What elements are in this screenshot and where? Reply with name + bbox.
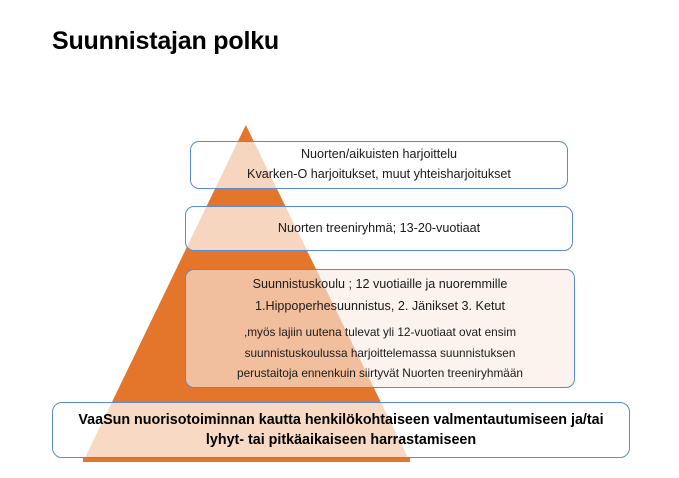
callout-paragraph-line: perustaitoja ennenkuin siirtyvät Nuorten… <box>200 365 560 382</box>
slide-canvas: Suunnistajan polku Nuorten/aikuisten har… <box>0 0 679 478</box>
callout-line: Suunnistuskoulu ; 12 vuotiaille ja nuore… <box>200 275 560 295</box>
callout-line: Kvarken-O harjoitukset, muut yhteisharjo… <box>199 165 559 185</box>
callout-paragraph-line: suunnistuskoulussa harjoittelemassa suun… <box>200 345 560 362</box>
callout-box-youth-group[interactable]: Nuorten treeniryhmä; 13-20-vuotiaat <box>185 206 573 251</box>
pyramid-base-strip <box>83 458 410 462</box>
banner-line: VaaSun nuorisotoiminnan kautta henkilöko… <box>65 410 617 430</box>
page-title: Suunnistajan polku <box>52 27 279 56</box>
callout-line: Nuorten/aikuisten harjoittelu <box>199 145 559 165</box>
callout-box-bottom-banner[interactable]: VaaSun nuorisotoiminnan kautta henkilöko… <box>52 402 630 458</box>
callout-line: Nuorten treeniryhmä; 13-20-vuotiaat <box>194 219 564 239</box>
callout-line: 1.Hippoperhesuunnistus, 2. Jänikset 3. K… <box>200 297 560 317</box>
callout-box-orienteering-school[interactable]: Suunnistuskoulu ; 12 vuotiaille ja nuore… <box>185 269 575 388</box>
callout-paragraph-line: ,myös lajiin uutena tulevat yli 12-vuoti… <box>200 324 560 341</box>
banner-line: lyhyt- tai pitkäaikaiseen harrastamiseen <box>65 430 617 450</box>
callout-box-adult-training[interactable]: Nuorten/aikuisten harjoittelu Kvarken-O … <box>190 141 568 189</box>
